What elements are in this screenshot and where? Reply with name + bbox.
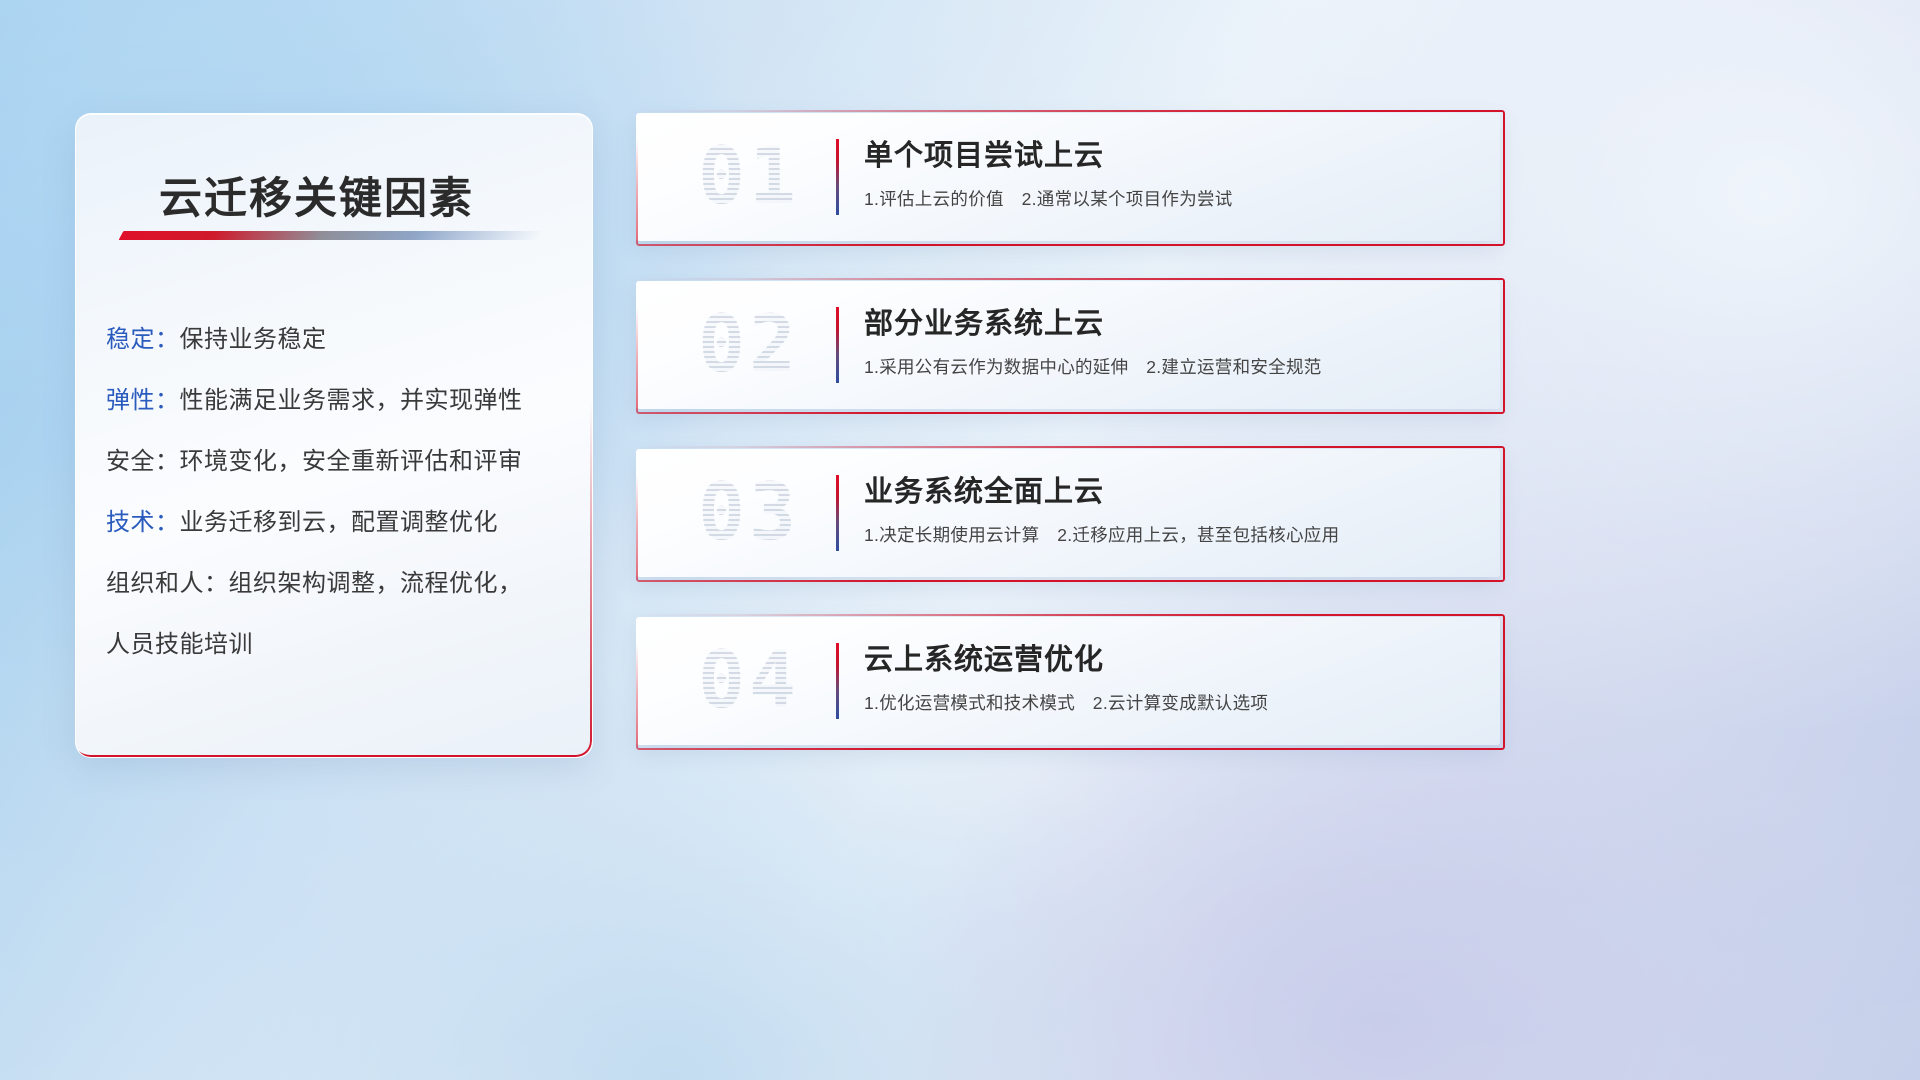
title-underline-accent [119, 231, 544, 240]
step-number-watermark: 02 [664, 297, 834, 393]
factor-text: 性能满足业务需求，并实现弹性 [180, 387, 523, 414]
step-title: 业务系统全面上云 [864, 471, 1476, 513]
step-number-watermark: 04 [664, 633, 834, 729]
step-description: 1.评估上云的价值 2.通常以某个项目作为尝试 [864, 186, 1476, 212]
step-accent-bar [836, 139, 839, 215]
factor-text: 业务迁移到云，配置调整优化 [180, 509, 499, 536]
card-top-accent-line [636, 614, 1500, 616]
factor-row: 稳定：保持业务稳定 [106, 309, 576, 370]
card-top-accent-line [636, 278, 1500, 280]
migration-steps-list: 01单个项目尝试上云1.评估上云的价值 2.通常以某个项目作为尝试02部分业务系… [636, 113, 1500, 745]
factor-text: 组织架构调整，流程优化， [229, 570, 523, 597]
factor-list: 稳定：保持业务稳定弹性：性能满足业务需求，并实现弹性安全：环境变化，安全重新评估… [106, 309, 576, 675]
factor-text: 环境变化，安全重新评估和评审 [180, 448, 523, 475]
step-description: 1.决定长期使用云计算 2.迁移应用上云，甚至包括核心应用 [864, 522, 1476, 548]
factor-row: 弹性：性能满足业务需求，并实现弹性 [106, 370, 576, 431]
step-title: 单个项目尝试上云 [864, 135, 1476, 177]
page-title: 云迁移关键因素 [159, 164, 474, 226]
factor-label: 稳定： [106, 326, 180, 353]
step-number-watermark: 03 [664, 465, 834, 561]
factor-label: 弹性： [106, 387, 180, 414]
step-number-watermark: 01 [664, 129, 834, 225]
factor-label: 组织和人： [106, 570, 229, 597]
step-card[interactable]: 01单个项目尝试上云1.评估上云的价值 2.通常以某个项目作为尝试 [636, 113, 1500, 241]
step-accent-bar [836, 643, 839, 719]
step-title: 云上系统运营优化 [864, 639, 1476, 681]
factor-row: 安全：环境变化，安全重新评估和评审 [106, 431, 576, 492]
step-description: 1.优化运营模式和技术模式 2.云计算变成默认选项 [864, 690, 1476, 716]
step-accent-bar [836, 307, 839, 383]
factor-row: 组织和人：组织架构调整，流程优化， [106, 553, 576, 614]
factor-text: 保持业务稳定 [180, 326, 327, 353]
step-body: 云上系统运营优化1.优化运营模式和技术模式 2.云计算变成默认选项 [864, 639, 1476, 716]
step-description: 1.采用公有云作为数据中心的延伸 2.建立运营和安全规范 [864, 354, 1476, 380]
step-card[interactable]: 02部分业务系统上云1.采用公有云作为数据中心的延伸 2.建立运营和安全规范 [636, 281, 1500, 409]
step-card[interactable]: 03业务系统全面上云1.决定长期使用云计算 2.迁移应用上云，甚至包括核心应用 [636, 449, 1500, 577]
factor-label: 技术： [106, 509, 180, 536]
step-card[interactable]: 04云上系统运营优化1.优化运营模式和技术模式 2.云计算变成默认选项 [636, 617, 1500, 745]
factor-text: 人员技能培训 [106, 631, 253, 658]
factor-row: 人员技能培训 [106, 614, 576, 675]
key-factors-panel: 云迁移关键因素 稳定：保持业务稳定弹性：性能满足业务需求，并实现弹性安全：环境变… [75, 113, 593, 758]
factor-label: 安全： [106, 448, 180, 475]
factor-row: 技术：业务迁移到云，配置调整优化 [106, 492, 576, 553]
step-accent-bar [836, 475, 839, 551]
step-body: 业务系统全面上云1.决定长期使用云计算 2.迁移应用上云，甚至包括核心应用 [864, 471, 1476, 548]
step-body: 部分业务系统上云1.采用公有云作为数据中心的延伸 2.建立运营和安全规范 [864, 303, 1476, 380]
step-body: 单个项目尝试上云1.评估上云的价值 2.通常以某个项目作为尝试 [864, 135, 1476, 212]
card-top-accent-line [636, 446, 1500, 448]
step-title: 部分业务系统上云 [864, 303, 1476, 345]
